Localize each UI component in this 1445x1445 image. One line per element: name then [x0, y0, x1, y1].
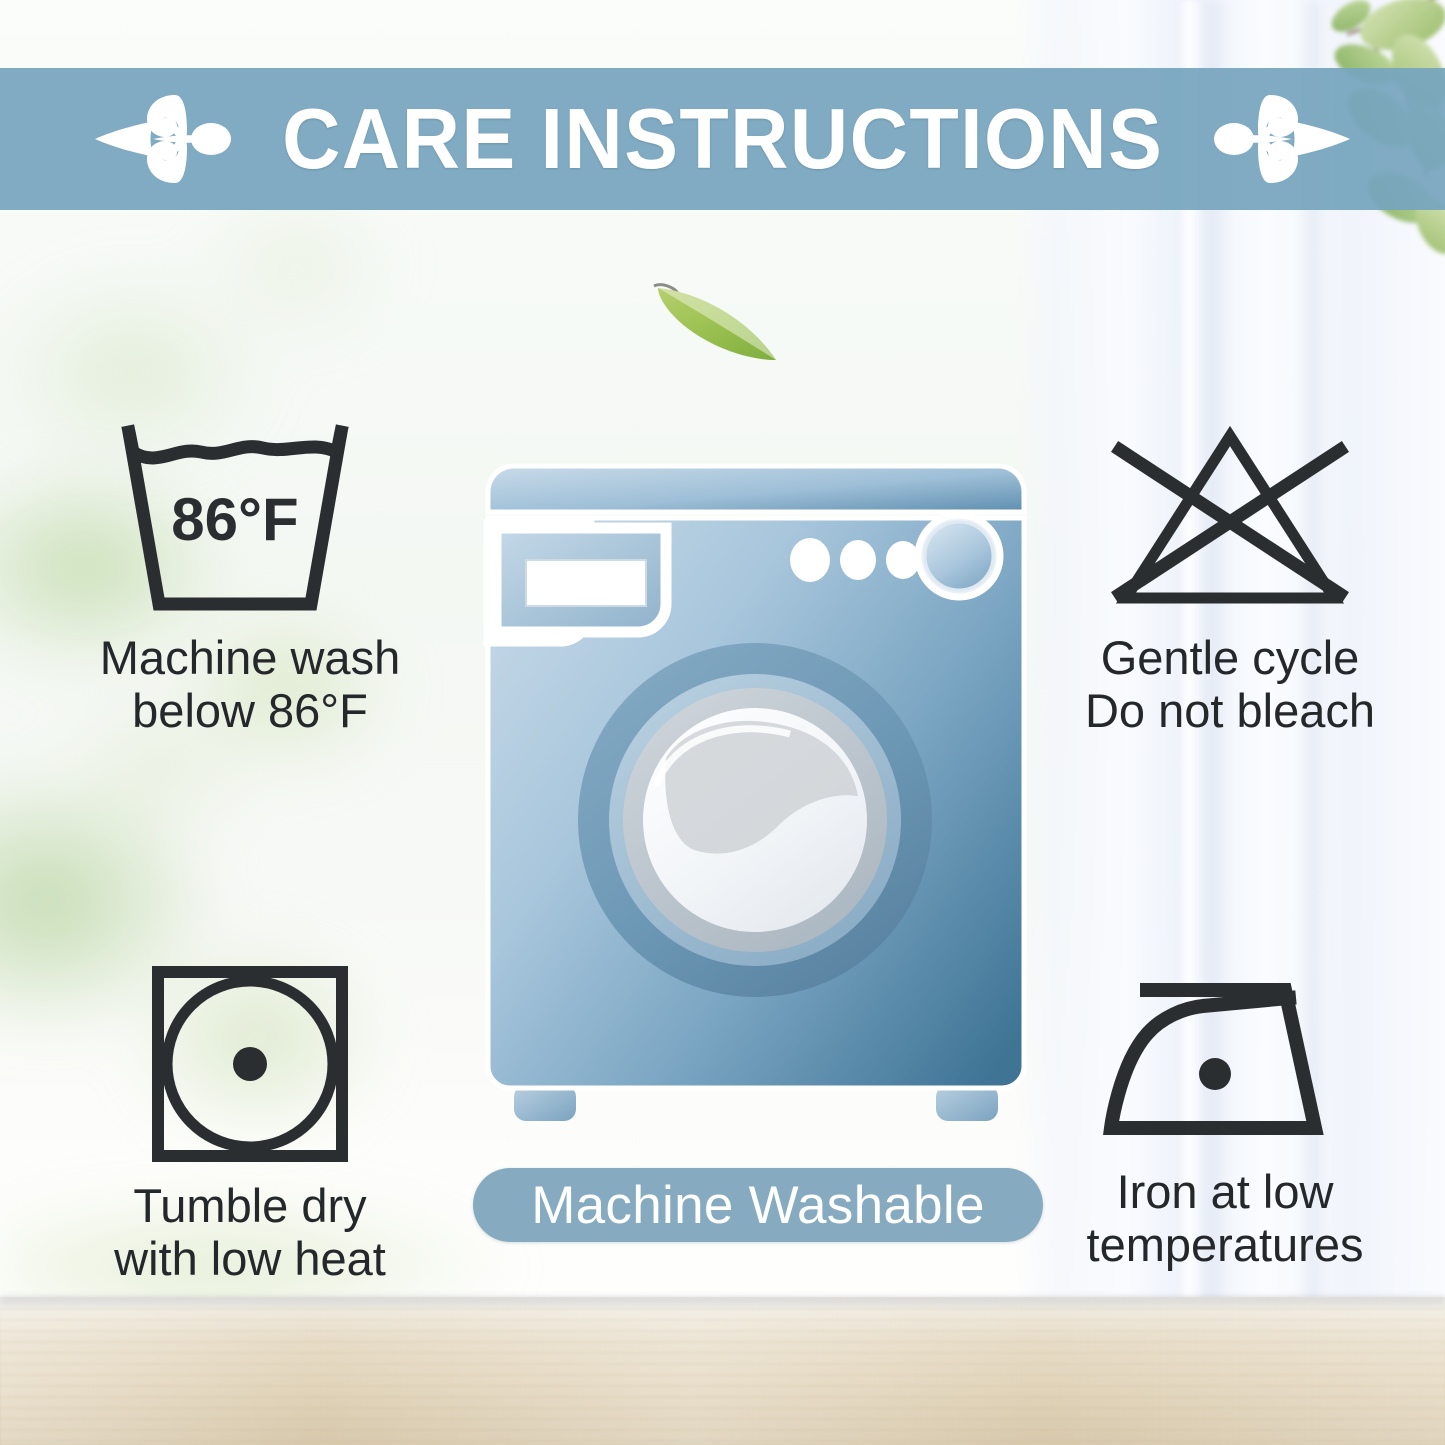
- care-instructions-infographic: CARE INSTRUCTIONS 8: [0, 0, 1445, 1445]
- do-not-bleach-triangle-icon: [1096, 418, 1364, 618]
- banner: CARE INSTRUCTIONS: [0, 68, 1445, 210]
- drawer-slot: [526, 560, 646, 606]
- iron-low-heat-icon: [1099, 962, 1351, 1152]
- wood-grain-texture: [0, 1297, 1445, 1445]
- table-edge-shadow: [0, 1297, 1445, 1309]
- wash-tub-icon: 86°F: [115, 418, 385, 618]
- wash-temperature-value: 86°F: [171, 486, 298, 553]
- machine-washable-badge: Machine Washable: [473, 1168, 1043, 1242]
- care-item-label: Gentle cycle Do not bleach: [1015, 632, 1445, 737]
- washer-door[interactable]: [578, 643, 932, 997]
- care-item-do-not-bleach: Gentle cycle Do not bleach: [1015, 418, 1445, 737]
- care-item-label: Iron at low temperatures: [1010, 1166, 1440, 1271]
- machine-lid: [488, 466, 1024, 512]
- control-knob[interactable]: [918, 515, 1000, 597]
- badge-label: Machine Washable: [531, 1179, 985, 1232]
- care-item-label: Machine wash below 86°F: [20, 632, 480, 737]
- tumble-dry-low-icon: [146, 962, 354, 1166]
- page-title: CARE INSTRUCTIONS: [282, 97, 1163, 182]
- fleur-de-lis-icon: [83, 91, 233, 187]
- care-item-label: Tumble dry with low heat: [30, 1180, 470, 1285]
- care-item-iron-low: Iron at low temperatures: [1010, 962, 1440, 1271]
- care-item-tumble-dry: Tumble dry with low heat: [30, 962, 470, 1285]
- indicator-lights: [790, 538, 920, 582]
- care-item-machine-wash: 86°F Machine wash below 86°F: [20, 418, 480, 737]
- washing-machine-illustration: [470, 440, 1040, 1140]
- green-leaf-icon: [636, 268, 796, 378]
- background-wooden-table: [0, 1297, 1445, 1445]
- fleur-de-lis-icon: [1212, 91, 1362, 187]
